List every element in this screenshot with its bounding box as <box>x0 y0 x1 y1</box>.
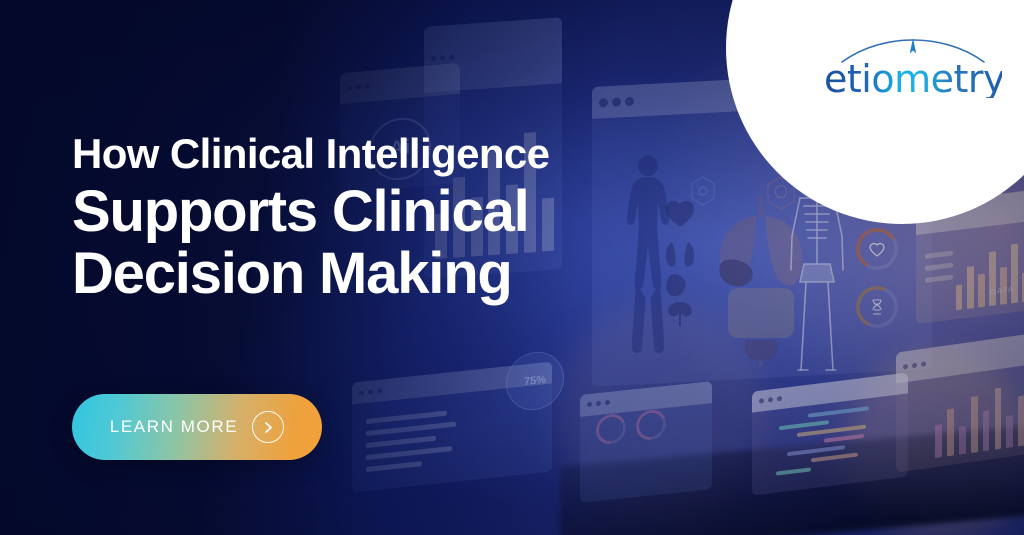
learn-more-button[interactable]: LEARN MORE <box>72 394 322 460</box>
hero-banner: Ai <box>0 0 1024 535</box>
headline-block: How Clinical Intelligence Supports Clini… <box>72 132 549 305</box>
chevron-right-circle-icon <box>252 411 284 443</box>
brand-logo[interactable]: etiometry <box>824 38 1002 98</box>
learn-more-label: LEARN MORE <box>110 417 238 437</box>
headline-line-1: How Clinical Intelligence <box>72 132 549 177</box>
headline-line-3: Decision Making <box>72 243 549 305</box>
headline-line-2: Supports Clinical <box>72 181 549 243</box>
logo-wordmark: etiometry <box>824 60 1002 98</box>
